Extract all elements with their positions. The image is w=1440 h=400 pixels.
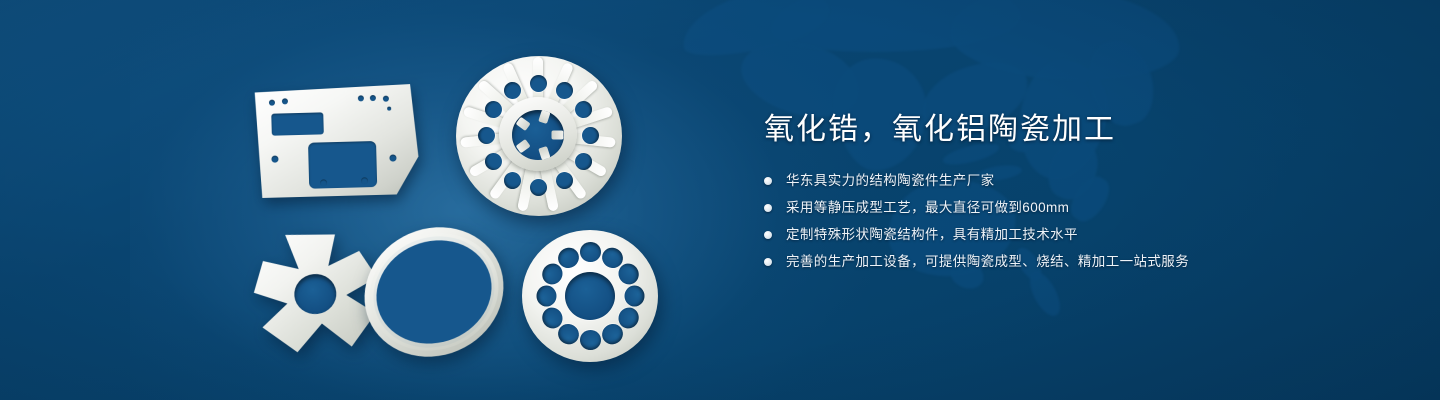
bullet-dot-icon (764, 231, 772, 239)
list-item: 完善的生产加工设备，可提供陶瓷成型、烧结、精加工一站式服务 (764, 253, 1364, 271)
marketing-copy: 氧化锆，氧化铝陶瓷加工 华东具实力的结构陶瓷件生产厂家 采用等静压成型工艺，最大… (764, 110, 1364, 280)
hero-banner: 氧化锆，氧化铝陶瓷加工 华东具实力的结构陶瓷件生产厂家 采用等静压成型工艺，最大… (0, 0, 1440, 400)
list-item: 华东具实力的结构陶瓷件生产厂家 (764, 172, 1364, 190)
ceramic-seal-ring (360, 218, 508, 365)
bullet-text: 采用等静压成型工艺，最大直径可做到600mm (786, 200, 1069, 215)
bullet-text: 华东具实力的结构陶瓷件生产厂家 (786, 173, 995, 188)
product-image-group (0, 0, 740, 400)
list-item: 定制特殊形状陶瓷结构件，具有精加工技术水平 (764, 226, 1364, 244)
bullet-dot-icon (764, 204, 772, 212)
ceramic-plate-with-cutouts (255, 84, 420, 198)
ceramic-perforated-disc (522, 230, 658, 362)
banner-headline: 氧化锆，氧化铝陶瓷加工 (764, 110, 1364, 150)
feature-bullet-list: 华东具实力的结构陶瓷件生产厂家 采用等静压成型工艺，最大直径可做到600mm 定… (764, 172, 1364, 271)
bullet-dot-icon (764, 177, 772, 185)
bullet-text: 定制特殊形状陶瓷结构件，具有精加工技术水平 (786, 227, 1078, 242)
impeller-hub-splines (452, 52, 624, 218)
bullet-dot-icon (764, 258, 772, 266)
ceramic-impeller-disc (452, 52, 624, 218)
bullet-text: 完善的生产加工设备，可提供陶瓷成型、烧结、精加工一站式服务 (786, 254, 1189, 269)
list-item: 采用等静压成型工艺，最大直径可做到600mm (764, 199, 1364, 217)
